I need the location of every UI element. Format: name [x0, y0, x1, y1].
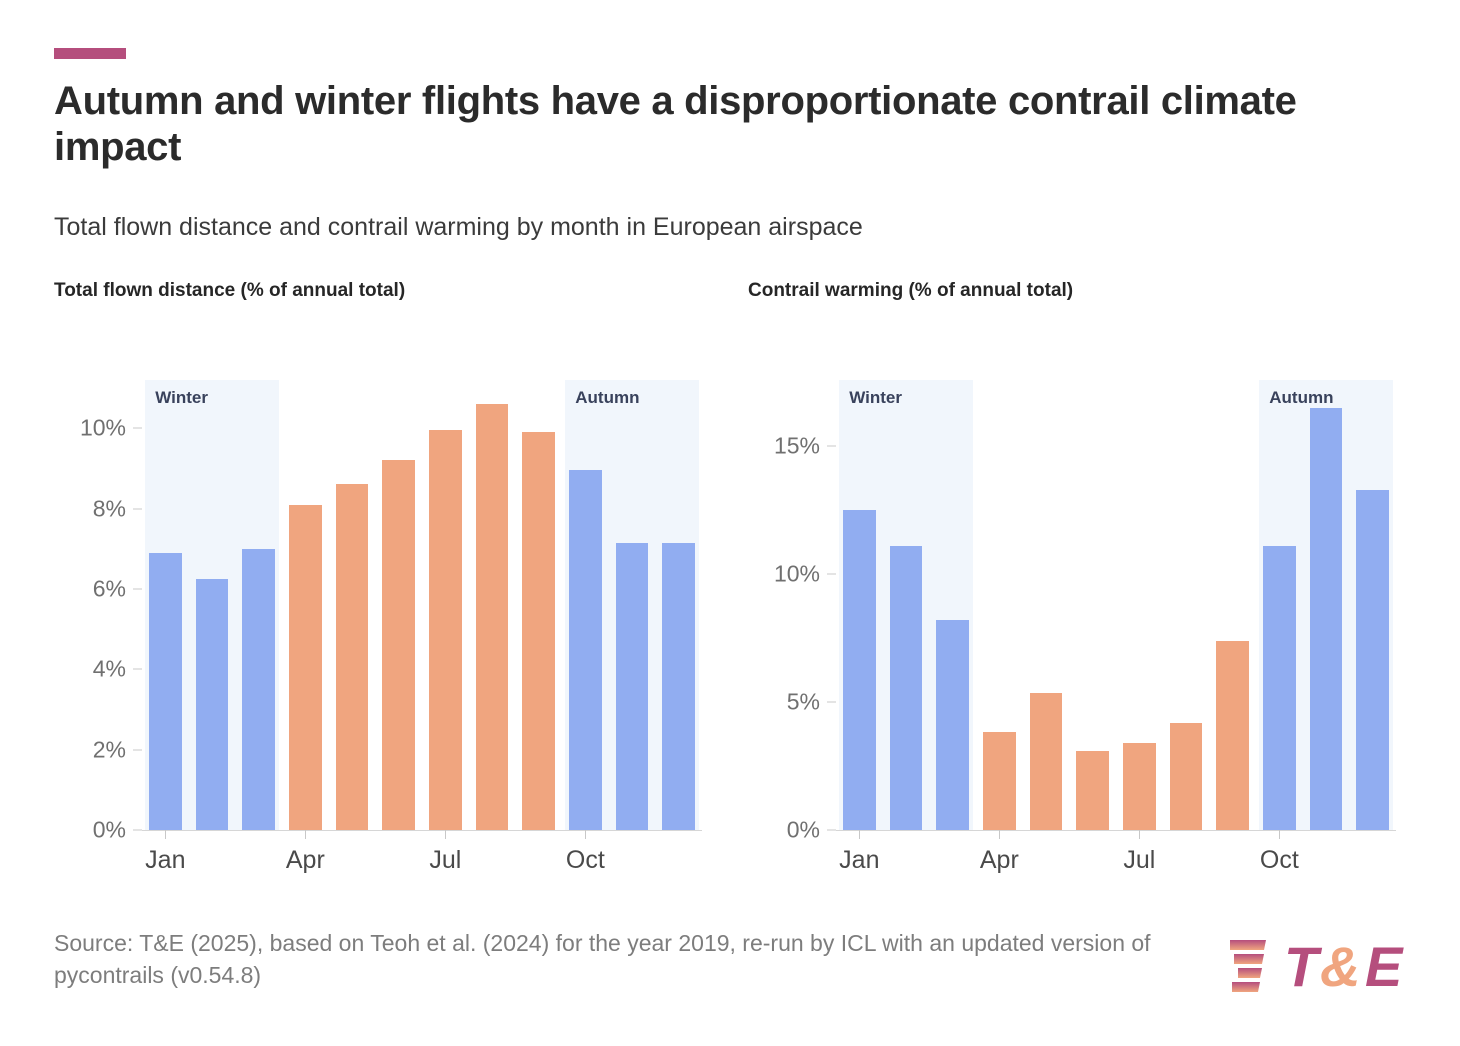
- y-tick-label: 5%: [748, 689, 836, 716]
- y-tick-mark: [133, 428, 142, 429]
- y-tick-mark: [133, 508, 142, 509]
- bar-apr[interactable]: [289, 505, 322, 830]
- bar-jan[interactable]: [843, 510, 876, 830]
- x-tick-label-apr: Apr: [980, 846, 1019, 875]
- panel-title-contrail-warming: Contrail warming (% of annual total): [748, 280, 1073, 302]
- y-tick-label: 8%: [54, 495, 142, 522]
- bar-jun[interactable]: [1076, 751, 1109, 830]
- bar-nov[interactable]: [1310, 408, 1343, 830]
- x-tick-label-oct: Oct: [1260, 846, 1299, 875]
- x-tick-mark: [165, 830, 166, 839]
- chart-page: Autumn and winter flights have a disprop…: [0, 0, 1460, 1046]
- page-title: Autumn and winter flights have a disprop…: [54, 78, 1394, 171]
- bar-mar[interactable]: [936, 620, 969, 830]
- bar-oct[interactable]: [1263, 546, 1296, 830]
- y-tick-label: 10%: [748, 561, 836, 588]
- bar-mar[interactable]: [242, 549, 275, 830]
- svg-text:&: &: [1320, 935, 1360, 996]
- svg-text:T: T: [1284, 935, 1323, 996]
- bar-jun[interactable]: [382, 460, 415, 830]
- y-tick-mark: [827, 574, 836, 575]
- bar-jul[interactable]: [1123, 743, 1156, 830]
- y-tick-mark: [133, 749, 142, 750]
- y-tick-mark: [133, 588, 142, 589]
- x-tick-label-apr: Apr: [286, 846, 325, 875]
- x-tick-label-oct: Oct: [566, 846, 605, 875]
- bar-sep[interactable]: [522, 432, 555, 830]
- bar-aug[interactable]: [1170, 723, 1203, 830]
- plot-contrail-warming: WinterAutumn 0%5%10%15% JanAprJulOct: [748, 380, 1408, 880]
- panel-title-flown-distance: Total flown distance (% of annual total): [54, 280, 405, 302]
- y-tick-label: 15%: [748, 433, 836, 460]
- bar-may[interactable]: [1030, 693, 1063, 830]
- x-axis-line-contrail-warming: [836, 830, 1396, 831]
- x-tick-mark: [585, 830, 586, 839]
- bar-feb[interactable]: [890, 546, 923, 830]
- x-tick-mark: [305, 830, 306, 839]
- y-tick-mark: [827, 446, 836, 447]
- x-tick-mark: [999, 830, 1000, 839]
- bar-may[interactable]: [336, 484, 369, 830]
- y-tick-mark: [133, 830, 142, 831]
- bar-aug[interactable]: [476, 404, 509, 830]
- y-tick-label: 2%: [54, 736, 142, 763]
- bar-sep[interactable]: [1216, 641, 1249, 830]
- te-logo: T & E: [1228, 932, 1413, 996]
- bars-flown-distance: [142, 380, 702, 830]
- bar-feb[interactable]: [196, 579, 229, 830]
- bar-oct[interactable]: [569, 470, 602, 830]
- y-tick-label: 4%: [54, 656, 142, 683]
- x-tick-mark: [859, 830, 860, 839]
- y-tick-mark: [133, 669, 142, 670]
- y-tick-label: 0%: [54, 817, 142, 844]
- plot-flown-distance: WinterAutumn 0%2%4%6%8%10% JanAprJulOct: [54, 380, 714, 880]
- te-logo-text: T & E: [1284, 935, 1404, 996]
- source-note: Source: T&E (2025), based on Teoh et al.…: [54, 928, 1184, 991]
- bar-dec[interactable]: [1356, 490, 1389, 830]
- bar-nov[interactable]: [616, 543, 649, 830]
- x-tick-mark: [1139, 830, 1140, 839]
- x-tick-mark: [445, 830, 446, 839]
- chart-panels: Total flown distance (% of annual total)…: [0, 280, 1460, 910]
- x-tick-label-jan: Jan: [145, 846, 185, 875]
- bar-apr[interactable]: [983, 732, 1016, 830]
- y-tick-label: 6%: [54, 575, 142, 602]
- x-axis-line-flown-distance: [142, 830, 702, 831]
- y-tick-label: 10%: [54, 415, 142, 442]
- svg-text:E: E: [1365, 935, 1404, 996]
- y-tick-mark: [827, 702, 836, 703]
- accent-bar: [54, 48, 126, 59]
- bar-jul[interactable]: [429, 430, 462, 830]
- bar-dec[interactable]: [662, 543, 695, 830]
- x-tick-label-jan: Jan: [839, 846, 879, 875]
- x-tick-mark: [1279, 830, 1280, 839]
- page-subtitle: Total flown distance and contrail warmin…: [54, 212, 1394, 243]
- panel-flown-distance: Total flown distance (% of annual total)…: [54, 280, 714, 910]
- bars-contrail-warming: [836, 380, 1396, 830]
- te-logo-mark: [1230, 940, 1266, 992]
- y-tick-mark: [827, 830, 836, 831]
- x-tick-label-jul: Jul: [429, 846, 461, 875]
- y-tick-label: 0%: [748, 817, 836, 844]
- bar-jan[interactable]: [149, 553, 182, 830]
- x-tick-label-jul: Jul: [1123, 846, 1155, 875]
- panel-contrail-warming: Contrail warming (% of annual total) Win…: [748, 280, 1408, 910]
